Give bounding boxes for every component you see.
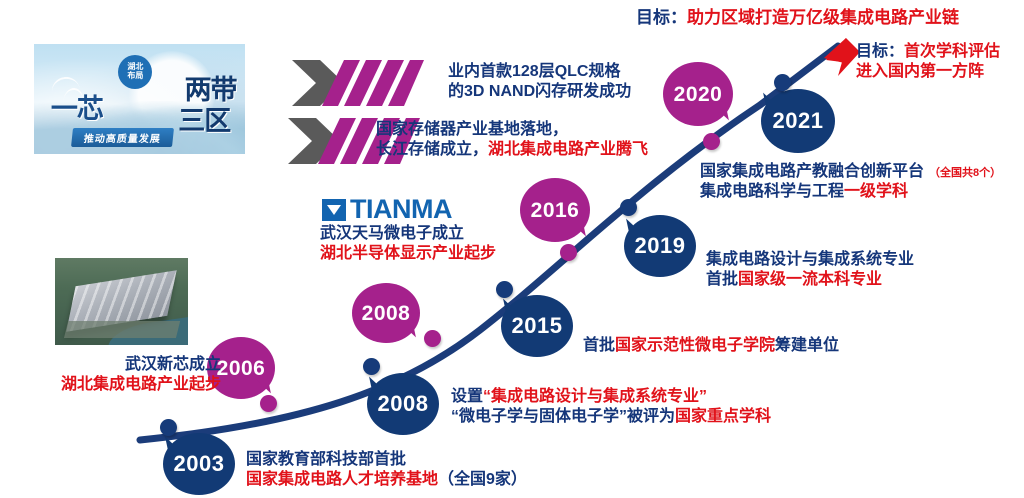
- tianma-wordmark: TIANMA: [350, 196, 452, 223]
- node-2020[interactable]: [703, 133, 720, 150]
- banner-badge-line2: 布局: [127, 72, 143, 81]
- bubble-2021[interactable]: 2021: [761, 89, 835, 153]
- annotation-xinxin: 武汉新芯成立 湖北集成电路产业起步: [16, 355, 221, 394]
- annotation-xmc-lower: 国家存储器产业基地落地， 长江存储成立，湖北集成电路产业腾飞: [376, 120, 648, 159]
- bubble-2008-purple-year: 2008: [362, 303, 411, 324]
- tianma-line1: 武汉天马微电子成立: [320, 224, 496, 244]
- bubble-2003[interactable]: 2003: [163, 433, 235, 495]
- node-2016[interactable]: [560, 244, 577, 261]
- fab-photo: [55, 258, 188, 345]
- goal-right-label: 目标：: [856, 43, 904, 60]
- xmc-chevron-logo-icon: [292, 58, 424, 108]
- goal-top: 目标：助力区域打造万亿级集成电路产业链: [636, 8, 959, 29]
- bubble-2016-year: 2016: [531, 200, 580, 221]
- goal-right-line2: 进入国内第一方阵: [856, 62, 1000, 82]
- text-2003-line2-red: 国家集成电路人才培养基地: [246, 471, 438, 488]
- annotation-xmc-upper: 业内首款128层QLC规格 的3D NAND闪存研发成功: [448, 62, 631, 101]
- text-2003-line1: 国家教育部科技部首批: [246, 450, 527, 470]
- xmc-lower-line1: 国家存储器产业基地落地，: [376, 120, 648, 140]
- text-2021-line2-red: 一级学科: [844, 183, 908, 200]
- bubble-2021-year: 2021: [773, 110, 824, 132]
- text-2008-line2-red: 国家重点学科: [675, 408, 771, 425]
- text-2019-line1: 集成电路设计与集成系统专业: [706, 250, 914, 270]
- bubble-2020[interactable]: 2020: [663, 62, 733, 126]
- node-2019[interactable]: [620, 199, 637, 216]
- node-2006[interactable]: [260, 395, 277, 412]
- text-2008: 设置“集成电路设计与集成系统专业” “微电子学与固体电子学”被评为国家重点学科: [451, 387, 771, 426]
- xmc-upper-line1: 业内首款128层QLC规格: [448, 62, 631, 82]
- text-2021: 国家集成电路产教融合创新平台（全国共8个） 集成电路科学与工程一级学科: [700, 162, 1001, 201]
- text-2019: 集成电路设计与集成系统专业 首批国家级一流本科专业: [706, 250, 914, 289]
- text-2019-line2-red: 国家级一流本科专业: [738, 271, 882, 288]
- bubble-2016[interactable]: 2016: [520, 178, 590, 242]
- text-2015-b: 筹建单位: [775, 337, 839, 354]
- text-2019-line2-a: 首批: [706, 271, 738, 288]
- photo-parking-lot: [63, 321, 179, 338]
- goal-top-text: 助力区域打造万亿级集成电路产业链: [687, 8, 959, 27]
- banner-ribbon: 推动高质量发展: [71, 128, 174, 147]
- bubble-2008-blue-year: 2008: [378, 393, 429, 415]
- tianma-logo: TIANMA: [322, 196, 452, 223]
- text-2021-line1: 国家集成电路产教融合创新平台: [700, 163, 924, 180]
- node-2021[interactable]: [774, 74, 791, 91]
- node-2003[interactable]: [160, 419, 177, 436]
- hubei-banner-image: 湖北 布局 一芯 两带 三区 推动高质量发展: [33, 43, 246, 155]
- tianma-mark-icon: [322, 199, 346, 221]
- bubble-2003-year: 2003: [174, 453, 225, 475]
- bubble-2015[interactable]: 2015: [501, 295, 573, 357]
- bubble-2008-purple[interactable]: 2008: [352, 283, 420, 343]
- text-2008-line2-b: 被评为: [627, 408, 675, 425]
- goal-right: 目标：首次学科评估 进入国内第一方阵: [856, 42, 1000, 81]
- xmc-lower-line2-red: 湖北集成电路产业腾飞: [488, 141, 648, 158]
- timeline-infographic: 湖北 布局 一芯 两带 三区 推动高质量发展: [0, 0, 1024, 498]
- bubble-2020-year: 2020: [674, 84, 723, 105]
- xinxin-line2: 湖北集成电路产业起步: [16, 375, 221, 395]
- text-2003-line2-blue: （全国9家）: [438, 471, 527, 488]
- annotation-tianma: 武汉天马微电子成立 湖北半导体显示产业起步: [320, 224, 496, 263]
- bubble-2008-blue[interactable]: 2008: [367, 373, 439, 435]
- text-2008-line1-a: 设置: [451, 388, 483, 405]
- bubble-2019[interactable]: 2019: [624, 215, 696, 277]
- goal-right-line1: 首次学科评估: [904, 43, 1000, 60]
- banner-headline-3: 三区: [178, 99, 230, 138]
- node-2015[interactable]: [496, 281, 513, 298]
- text-2021-line1-note: （全国共8个）: [929, 167, 1001, 179]
- xmc-upper-line2: 的3D NAND闪存研发成功: [448, 82, 631, 102]
- banner-headline-1: 一芯: [51, 87, 103, 126]
- text-2008-line2-a: “微电子学与固体电子学”: [451, 408, 627, 425]
- node-2008-blue[interactable]: [363, 358, 380, 375]
- tianma-line2: 湖北半导体显示产业起步: [320, 244, 496, 264]
- node-2008-purple[interactable]: [424, 330, 441, 347]
- bubble-2019-year: 2019: [635, 235, 686, 257]
- bubble-2006-year: 2006: [217, 358, 266, 379]
- text-2015: 首批国家示范性微电子学院筹建单位: [583, 336, 839, 356]
- xmc-lower-line2-blue: 长江存储成立，: [376, 141, 488, 158]
- text-2015-a: 首批: [583, 337, 615, 354]
- text-2003: 国家教育部科技部首批 国家集成电路人才培养基地（全国9家）: [246, 450, 527, 489]
- goal-top-label: 目标：: [636, 8, 687, 27]
- text-2021-line2-a: 集成电路科学与工程: [700, 183, 844, 200]
- text-2008-line1-red: “集成电路设计与集成系统专业”: [483, 388, 707, 405]
- xinxin-line1: 武汉新芯成立: [16, 355, 221, 375]
- text-2015-red: 国家示范性微电子学院: [615, 337, 775, 354]
- bubble-2015-year: 2015: [512, 315, 563, 337]
